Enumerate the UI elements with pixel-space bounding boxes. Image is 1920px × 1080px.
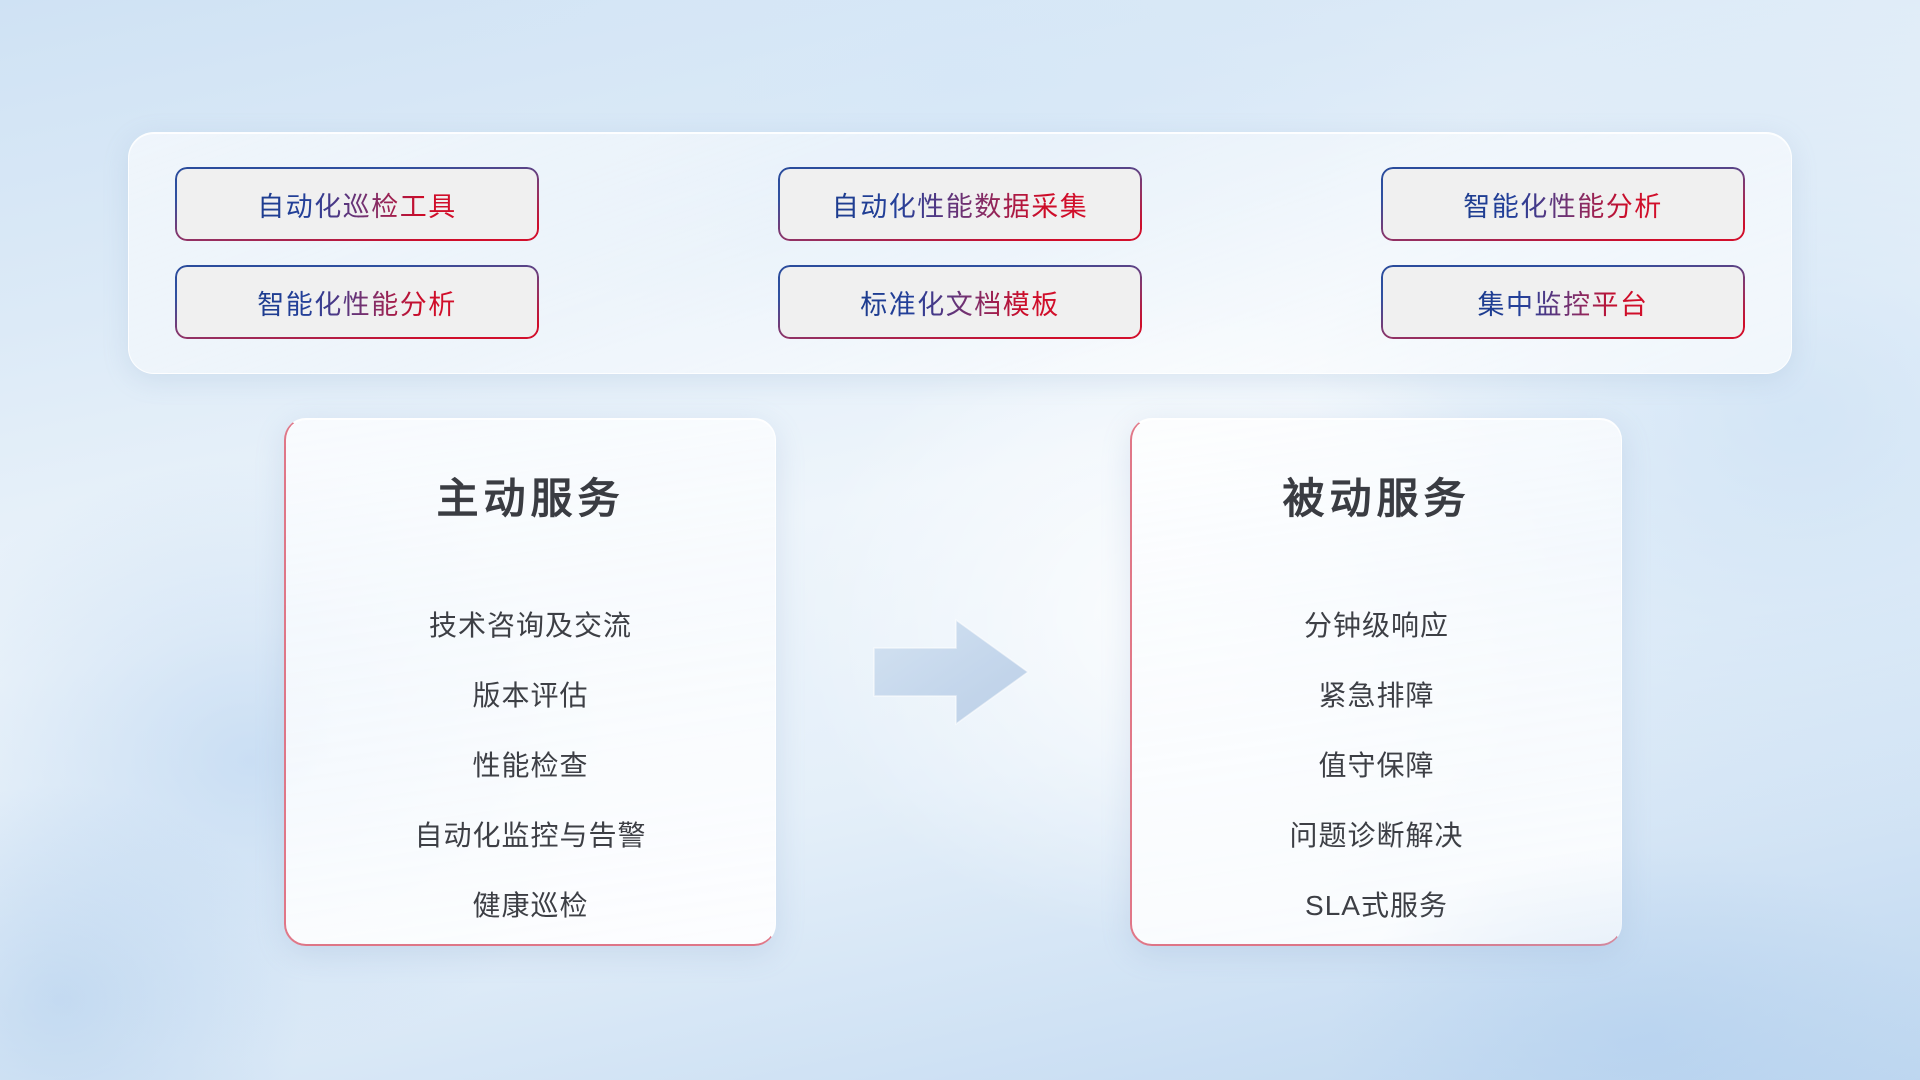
capability-tag-automated-inspection-tool[interactable]: 自动化巡检工具 <box>177 169 537 239</box>
capability-tag-label: 集中监控平台 <box>1478 283 1649 322</box>
list-item: 值守保障 <box>1318 744 1434 784</box>
slide-canvas: 自动化巡检工具 自动化性能数据采集 智能化性能分析 智能化性能分析 标准化文档模… <box>0 0 1920 1080</box>
list-item: 性能检查 <box>472 744 588 784</box>
service-card-reactive: 被动服务 分钟级响应 紧急排障 值守保障 问题诊断解决 SLA式服务 <box>1130 418 1622 946</box>
capability-tag-automated-performance-data-collection[interactable]: 自动化性能数据采集 <box>780 169 1140 239</box>
capability-tag-label: 标准化文档模板 <box>860 283 1060 322</box>
capability-tag-label: 智能化性能分析 <box>1463 185 1663 224</box>
capability-tag-intelligent-performance-analysis-2[interactable]: 智能化性能分析 <box>177 267 537 337</box>
capability-tag-label: 自动化巡检工具 <box>257 185 457 224</box>
list-item: 健康巡检 <box>472 884 588 924</box>
capability-tag-centralized-monitoring-platform[interactable]: 集中监控平台 <box>1383 267 1743 337</box>
list-item: 问题诊断解决 <box>1289 814 1463 854</box>
capability-row-1: 自动化巡检工具 自动化性能数据采集 智能化性能分析 <box>177 169 1743 239</box>
service-item-list: 技术咨询及交流 版本评估 性能检查 自动化监控与告警 健康巡检 <box>414 604 646 924</box>
list-item: 自动化监控与告警 <box>414 814 646 854</box>
service-card-title: 被动服务 <box>1282 465 1470 526</box>
list-item: 紧急排障 <box>1318 674 1434 714</box>
list-item: 版本评估 <box>472 674 588 714</box>
arrow-right-icon <box>872 618 1030 726</box>
list-item: SLA式服务 <box>1305 884 1448 924</box>
capability-tag-intelligent-performance-analysis[interactable]: 智能化性能分析 <box>1383 169 1743 239</box>
service-item-list: 分钟级响应 紧急排障 值守保障 问题诊断解决 SLA式服务 <box>1289 604 1463 924</box>
capability-tag-label: 智能化性能分析 <box>257 283 457 322</box>
list-item: 技术咨询及交流 <box>429 604 632 644</box>
capability-tag-label: 自动化性能数据采集 <box>832 185 1089 224</box>
capability-row-2: 智能化性能分析 标准化文档模板 集中监控平台 <box>177 267 1743 337</box>
service-card-proactive: 主动服务 技术咨询及交流 版本评估 性能检查 自动化监控与告警 健康巡检 <box>284 418 776 946</box>
capability-panel: 自动化巡检工具 自动化性能数据采集 智能化性能分析 智能化性能分析 标准化文档模… <box>128 132 1792 374</box>
capability-tag-standardized-document-template[interactable]: 标准化文档模板 <box>780 267 1140 337</box>
service-card-title: 主动服务 <box>436 465 624 526</box>
list-item: 分钟级响应 <box>1304 604 1449 644</box>
